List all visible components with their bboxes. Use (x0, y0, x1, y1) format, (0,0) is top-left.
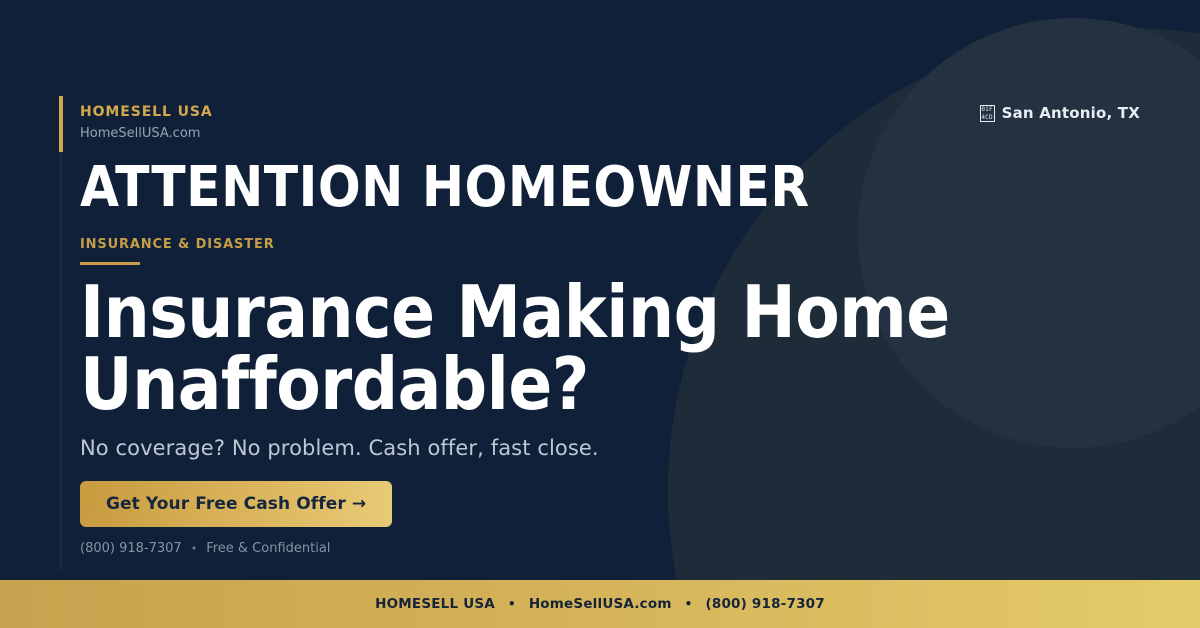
kicker-underline (80, 262, 140, 265)
fineprint: (800) 918-7307 • Free & Confidential (80, 541, 330, 556)
footer-phone[interactable]: (800) 918-7307 (705, 596, 824, 612)
fineprint-note: Free & Confidential (206, 541, 330, 556)
footer-website[interactable]: HomeSellUSA.com (529, 596, 672, 612)
headline-line-1: Insurance Making Home (80, 276, 980, 348)
get-free-cash-offer-button[interactable]: Get Your Free Cash Offer → (80, 481, 392, 527)
brand-website: HomeSellUSA.com (80, 124, 213, 144)
fineprint-separator: • (191, 542, 198, 555)
footer-separator-1: • (508, 597, 516, 611)
brand-name: HOMESELL USA (80, 104, 213, 122)
fineprint-phone[interactable]: (800) 918-7307 (80, 541, 182, 556)
page-title: Insurance Making Home Unaffordable? (80, 276, 980, 420)
brand-block: HOMESELL USA HomeSellUSA.com (80, 104, 213, 144)
location-label: San Antonio, TX (1002, 104, 1140, 122)
footer-bar: HOMESELL USA • HomeSellUSA.com • (800) 9… (0, 580, 1200, 628)
banner-content: HOMESELL USA HomeSellUSA.com 01F 4CD San… (0, 0, 1200, 580)
category-kicker: INSURANCE & DISASTER (80, 237, 275, 252)
location-pin-icon: 01F 4CD (980, 105, 995, 122)
footer-separator-2: • (685, 597, 693, 611)
location-badge: 01F 4CD San Antonio, TX (980, 104, 1140, 122)
attention-title: ATTENTION HOMEOWNER (80, 158, 810, 217)
headline-line-2: Unaffordable? (80, 348, 980, 420)
ad-banner: HOMESELL USA HomeSellUSA.com 01F 4CD San… (0, 0, 1200, 628)
footer-brand: HOMESELL USA (375, 596, 495, 612)
subheadline: No coverage? No problem. Cash offer, fas… (80, 436, 599, 460)
